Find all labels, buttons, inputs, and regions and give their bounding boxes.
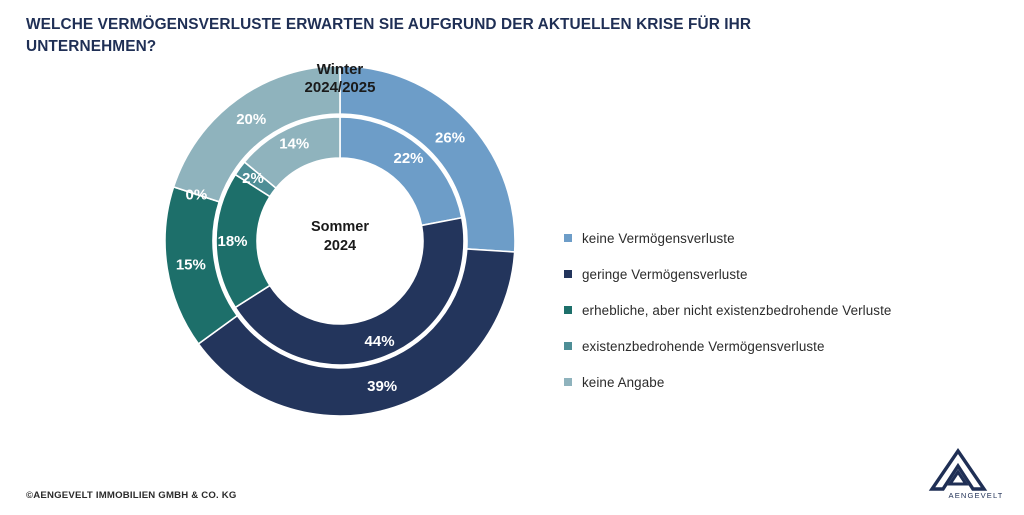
- legend: keine Vermögensverluste geringe Vermögen…: [564, 220, 984, 400]
- aengevelt-logo: AENGEVELT: [914, 445, 1002, 501]
- legend-item-label: geringe Vermögensverluste: [582, 267, 748, 282]
- copyright-footer: ©AENGEVELT IMMOBILIEN GMBH & CO. KG: [26, 490, 237, 501]
- legend-item[interactable]: keine Angabe: [564, 364, 984, 400]
- legend-item[interactable]: geringe Vermögensverluste: [564, 256, 984, 292]
- slice-value-label: 18%: [217, 233, 247, 250]
- slice-value-label: 15%: [176, 257, 206, 274]
- logo-wordmark: AENGEVELT: [949, 491, 1002, 500]
- legend-swatch-icon: [564, 234, 572, 242]
- slice-value-label: 20%: [236, 111, 266, 128]
- legend-item-label: existenzbedrohende Vermögensverluste: [582, 339, 825, 354]
- page-title: WELCHE VERMÖGENSVERLUSTE ERWARTEN SIE AU…: [26, 14, 786, 59]
- slice-value-label: 22%: [394, 150, 424, 167]
- legend-item[interactable]: keine Vermögensverluste: [564, 220, 984, 256]
- inner-ring-title-line2: 2024: [324, 238, 356, 254]
- legend-item[interactable]: existenzbedrohende Vermögensverluste: [564, 328, 984, 364]
- slice-value-label: 44%: [365, 333, 395, 350]
- slice-value-label: 0%: [186, 186, 208, 203]
- outer-ring-title-line2: 2024/2025: [305, 79, 376, 96]
- outer-ring-title-line1: Winter: [317, 61, 364, 78]
- legend-item-label: keine Vermögensverluste: [582, 231, 735, 246]
- slice-value-label: 2%: [242, 170, 264, 187]
- legend-swatch-icon: [564, 270, 572, 278]
- donut-chart-svg: 26%39%15%0%20% 22%44%18%2%14% Winter 202…: [108, 60, 578, 480]
- legend-item[interactable]: erhebliche, aber nicht existenzbedrohend…: [564, 292, 984, 328]
- legend-item-label: keine Angabe: [582, 375, 664, 390]
- legend-item-label: erhebliche, aber nicht existenzbedrohend…: [582, 303, 891, 318]
- inner-ring-title-line1: Sommer: [311, 219, 369, 235]
- slice-value-label: 39%: [367, 378, 397, 395]
- legend-swatch-icon: [564, 342, 572, 350]
- slice-value-label: 14%: [279, 136, 309, 153]
- legend-swatch-icon: [564, 306, 572, 314]
- slice-value-label: 26%: [435, 130, 465, 147]
- donut-chart: 26%39%15%0%20% 22%44%18%2%14% Winter 202…: [108, 60, 578, 480]
- legend-swatch-icon: [564, 378, 572, 386]
